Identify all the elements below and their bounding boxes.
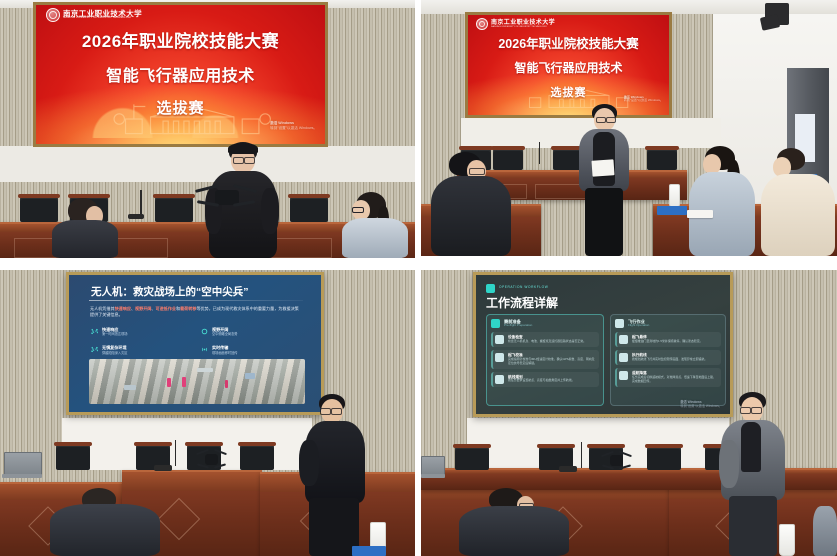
column-header: 飞行作业 Flight Operation [615, 319, 721, 328]
blue-folder [657, 206, 687, 215]
chair [647, 148, 677, 170]
banner-line-2: 智能飞行器应用技术 [36, 62, 325, 86]
microphone-base [128, 214, 144, 219]
university-seal-icon [476, 18, 488, 30]
feature-sub: 空中俯瞰全局态势 [212, 332, 238, 336]
glasses [469, 168, 485, 175]
banner-line-1: 2026年职业院校技能大赛 [468, 33, 669, 52]
workflow-card: 航线规划 按任务要求设置航点、高度与拍摄角度并上传航线。 [491, 372, 599, 387]
person-judge-left [431, 152, 515, 256]
workflow-card: 返航降落 任务完成后切换返航模式，对准降落点，低速下降至地面后上锁，完成数据回传… [615, 368, 721, 387]
drone-on-desk [196, 448, 226, 472]
step-chip-icon [615, 319, 624, 328]
feature-sub: 穿越险阻深入灾区 [102, 351, 128, 355]
column-subtitle: Flight Operation [628, 324, 649, 328]
person-judge-left [52, 198, 118, 258]
feature-item: 视野开阔空中俯瞰全局态势 [201, 327, 299, 336]
glasses [320, 408, 331, 415]
microphone [175, 440, 176, 466]
windows-watermark: 激活 Windows 转到"设置"以激活 Windows。 [680, 400, 722, 408]
person-edge [813, 506, 837, 556]
university-seal-icon [46, 8, 60, 22]
slide-paragraph: 无人机凭借其快速响应、视野开阔、可进抵作业和载荷转移等优势，已成为现代救灾体系中… [90, 306, 302, 318]
card-chip-icon [619, 371, 628, 380]
windows-watermark: 激活 Windows 转到"设置"以激活 Windows。 [624, 96, 663, 104]
microphone [539, 142, 540, 164]
drink-cup [669, 184, 680, 208]
glasses [244, 157, 255, 164]
para-highlight-1: 快速响应 [115, 306, 131, 311]
projection-screen: 无人机：救灾战场上的“空中尖兵” 无人机凭借其快速响应、视野开阔、可进抵作业和载… [66, 272, 324, 415]
chair [155, 196, 193, 222]
university-name-en: NANJING UNIVERSITY OF INDUSTRY TECHNOLOG… [63, 17, 142, 20]
torso [459, 506, 569, 556]
microphone-base [559, 466, 577, 472]
card-chip-icon [619, 335, 628, 344]
feature-grid: 快速响应第一时间抵达现场 视野开阔空中俯瞰全局态势 无惧复杂环境穿越险阻深入灾区… [91, 327, 299, 355]
para-highlight-2: 视野开阔 [135, 306, 151, 311]
panel-slide-rescue: 无人机：救灾战场上的“空中尖兵” 无人机凭借其快速响应、视野开阔、可进抵作业和载… [0, 270, 415, 556]
chair [290, 196, 328, 222]
panel-slide-workflow: OPERATION WORKFLOW 工作流程详解 赛前准备 Pre-fligh… [421, 270, 837, 556]
microphone [581, 442, 582, 468]
documents [687, 210, 713, 218]
laptop [421, 456, 445, 482]
para-pre: 无人机凭借其 [90, 306, 115, 311]
drone-icon [91, 328, 98, 335]
microphone-base [154, 465, 172, 471]
slide-workflow: OPERATION WORKFLOW 工作流程详解 赛前准备 Pre-fligh… [476, 275, 730, 414]
feature-item: 无惧复杂环境穿越险阻深入灾区 [91, 345, 189, 354]
card-body: 缓慢推油门至离地约1.5米并保持悬停，确认姿态稳定。 [632, 340, 703, 344]
watermark-line-2: 转到"设置"以激活 Windows。 [680, 404, 722, 408]
photo-collage: 南京工业职业技术大学 NANJING UNIVERSITY OF INDUSTR… [0, 0, 837, 556]
chair [240, 444, 274, 470]
glasses [751, 407, 762, 414]
workflow-badge-icon [486, 284, 495, 293]
trousers [585, 188, 623, 256]
card-chip-icon [495, 353, 504, 362]
trousers [729, 496, 777, 556]
banner-text: 2026年职业院校技能大赛 智能飞行器应用技术 选拔赛 [468, 33, 669, 100]
drone-device [195, 185, 257, 211]
para-highlight-4: 载荷转移 [180, 306, 196, 311]
title-divider [89, 300, 303, 301]
arm-gesture [719, 440, 739, 488]
torso [52, 220, 118, 258]
laptop [2, 452, 42, 482]
torso [431, 176, 511, 256]
signal-icon [201, 346, 208, 353]
chair [455, 446, 489, 470]
slide-rescue: 无人机：救灾战场上的“空中尖兵” 无人机凭借其快速响应、视野开阔、可进抵作业和载… [69, 275, 321, 412]
competition-banner: 南京工业职业技术大学 NANJING UNIVERSITY OF INDUSTR… [465, 12, 672, 118]
banner-line-1: 2026年职业院校技能大赛 [36, 27, 325, 52]
person-presenter [305, 394, 369, 556]
feature-sub: 第一时间抵达现场 [102, 332, 128, 336]
person-attendee [50, 488, 160, 556]
slide-eyebrow: OPERATION WORKFLOW [499, 285, 548, 289]
column-header: 赛前准备 Pre-flight Preparation [491, 319, 599, 328]
glasses [606, 117, 616, 123]
projection-screen: OPERATION WORKFLOW 工作流程详解 赛前准备 Pre-fligh… [473, 272, 733, 417]
hair-top [228, 143, 258, 154]
banner-line-3: 选拔赛 [36, 97, 325, 118]
workflow-card: 执行航线 按规划航线飞行并实时监控图传画面，发现异常立即返航。 [615, 350, 721, 365]
competition-banner: 南京工业职业技术大学 NANJING UNIVERSITY OF INDUSTR… [33, 2, 328, 147]
card-chip-icon [495, 375, 504, 384]
glasses [352, 207, 364, 213]
inner-shirt [741, 422, 761, 472]
card-body: 按任务要求设置航点、高度与拍摄角度并上传航线。 [508, 379, 574, 383]
circle-icon [201, 328, 208, 335]
card-body: 按规划航线飞行并实时监控图传画面，发现异常立即返航。 [632, 358, 707, 362]
torso [50, 504, 160, 556]
panel-drone-demo: 南京工业职业技术大学 NANJING UNIVERSITY OF INDUSTR… [0, 0, 415, 258]
step-chip-icon [491, 319, 500, 328]
drink-cup [779, 524, 795, 556]
feature-item: 快速响应第一时间抵达现场 [91, 327, 189, 336]
glasses [233, 157, 244, 164]
university-name-en: NANJING UNIVERSITY OF INDUSTRY TECHNOLOG… [491, 26, 555, 28]
person-judge-center-right [683, 146, 761, 256]
person-attendee [459, 488, 569, 556]
microphone [140, 190, 142, 216]
head [703, 154, 721, 174]
glasses [740, 407, 751, 414]
person-judge-right [336, 192, 408, 258]
column-subtitle: Pre-flight Preparation [504, 324, 532, 328]
banner-text: 2026年职业院校技能大赛 智能飞行器应用技术 选拔赛 [36, 27, 325, 118]
slide-title: 工作流程详解 [486, 294, 558, 311]
drone2-icon [91, 346, 98, 353]
drone-on-desk [601, 450, 631, 472]
card-chip-icon [495, 335, 504, 344]
university-logo: 南京工业职业技术大学 NANJING UNIVERSITY OF INDUSTR… [46, 8, 142, 22]
person-presenter [576, 104, 632, 256]
banner-line-2: 智能飞行器应用技术 [468, 59, 669, 76]
workflow-card: 设备检查 检查无人机机身、电池、螺旋桨及遥控器链路状态是否正常。 [491, 332, 599, 347]
workflow-card: 起飞悬停 缓慢推油门至离地约1.5米并保持悬停，确认姿态稳定。 [615, 332, 721, 347]
workflow-column-2: 飞行作业 Flight Operation 起飞悬停 缓慢推油门至离地约1.5米… [610, 314, 726, 406]
workflow-card: 起飞校准 完成指南针校准与IMU加速度计校准，确认GPS星数、高度、朝向及定位信… [491, 350, 599, 369]
glasses [596, 117, 606, 123]
torso [813, 506, 837, 556]
windows-watermark: 激活 Windows 转到"设置"以激活 Windows。 [270, 121, 317, 130]
para-highlight-3: 可进抵作业 [156, 306, 176, 311]
feature-item: 实时传输现场画面即时回传 [201, 345, 299, 354]
chair [647, 446, 681, 470]
slide-title: 无人机：救灾战场上的“空中尖兵” [91, 284, 249, 299]
card-body: 任务完成后切换返航模式，对准降落点，低速下降至地面后上锁，完成数据回传。 [632, 376, 718, 384]
university-logo: 南京工业职业技术大学 NANJING UNIVERSITY OF INDUSTR… [476, 18, 555, 30]
glasses [331, 408, 342, 415]
watermark-line-2: 转到"设置"以激活 Windows。 [624, 99, 663, 103]
panel-oral-defense: 南京工业职业技术大学 NANJING UNIVERSITY OF INDUSTR… [421, 0, 837, 256]
chair [56, 444, 90, 470]
watermark-line-2: 转到"设置"以激活 Windows。 [270, 126, 317, 130]
presentation-notes [591, 159, 614, 176]
arm-right [261, 188, 279, 234]
torso [761, 174, 835, 256]
feature-sub: 现场画面即时回传 [212, 351, 238, 355]
person-judge-far-right [761, 148, 837, 256]
card-chip-icon [619, 353, 628, 362]
disaster-photo [89, 359, 305, 404]
card-body: 检查无人机机身、电池、螺旋桨及遥控器链路状态是否正常。 [508, 340, 586, 344]
arm-gesture [299, 440, 319, 486]
card-body: 完成指南针校准与IMU加速度计校准，确认GPS星数、高度、朝向及定位信号稳定后解… [508, 358, 596, 366]
workflow-column-1: 赛前准备 Pre-flight Preparation 设备检查 检查无人机机身… [486, 314, 604, 406]
blue-folder [352, 546, 386, 556]
torso [342, 218, 408, 258]
